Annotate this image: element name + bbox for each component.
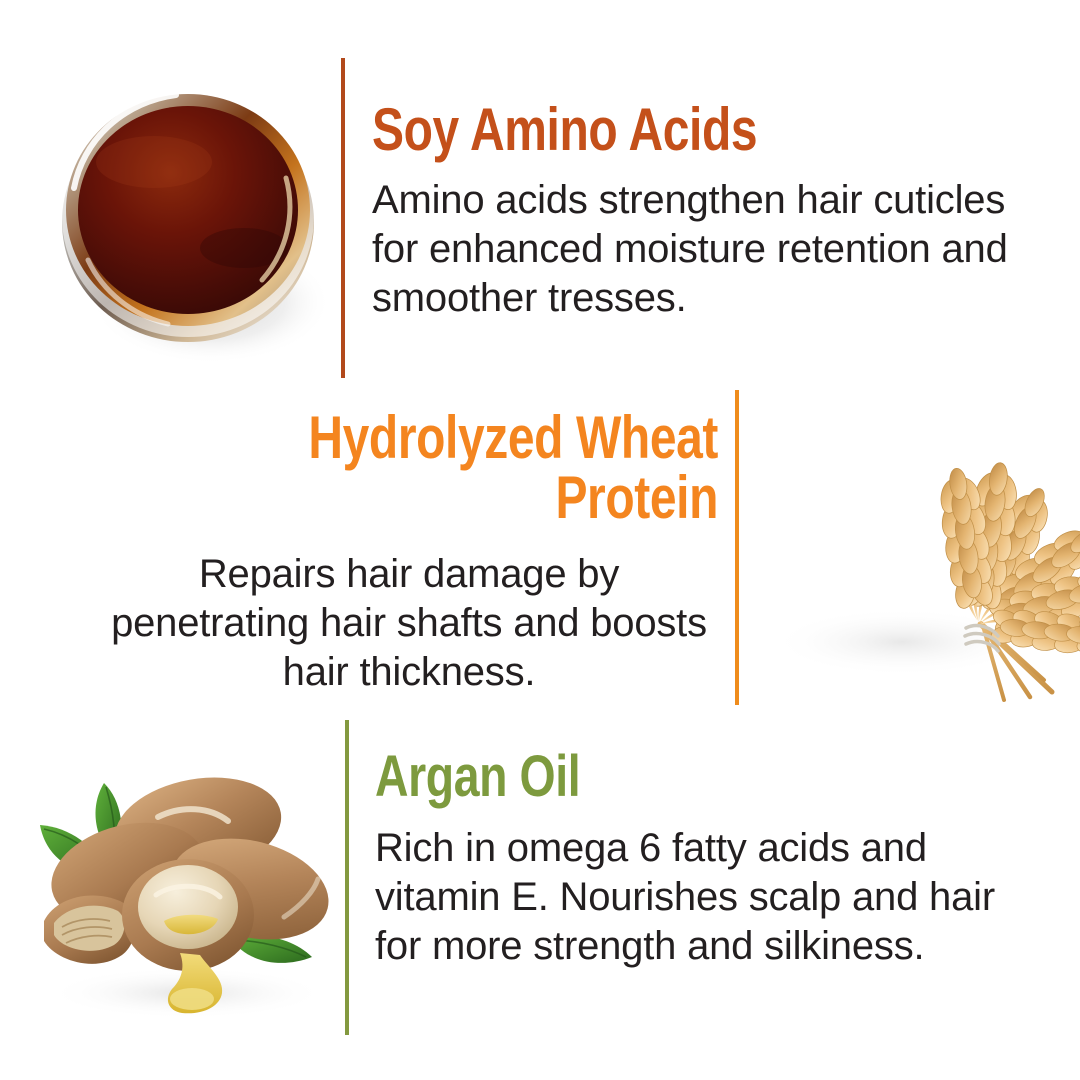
section-text-soy: Soy Amino Acids Amino acids strengthen h… [372, 100, 1032, 322]
section-heading-soy: Soy Amino Acids [372, 100, 900, 160]
section-body-argan: Rich in omega 6 fatty acids and vitamin … [375, 824, 1040, 970]
section-heading-wheat: Hydrolyzed Wheat Protein [224, 408, 718, 528]
section-divider-argan [345, 720, 349, 1035]
section-text-wheat: Hydrolyzed Wheat Protein Repairs hair da… [100, 408, 718, 696]
section-heading-argan: Argan Oil [375, 748, 907, 806]
argan-nuts-image [22, 755, 342, 1030]
ingredient-benefits-infographic: Soy Amino Acids Amino acids strengthen h… [0, 0, 1080, 1080]
wheat-bundle-image [752, 392, 1072, 707]
section-body-wheat: Repairs hair damage by penetrating hair … [100, 550, 718, 696]
section-divider-wheat [735, 390, 739, 705]
section-body-soy: Amino acids strengthen hair cuticles for… [372, 176, 1032, 322]
section-divider-soy [341, 58, 345, 378]
soy-liquid [78, 106, 298, 314]
section-text-argan: Argan Oil Rich in omega 6 fatty acids an… [375, 748, 1040, 970]
argan-kernel [138, 865, 238, 949]
soy-sauce-bowl-image [48, 70, 338, 370]
